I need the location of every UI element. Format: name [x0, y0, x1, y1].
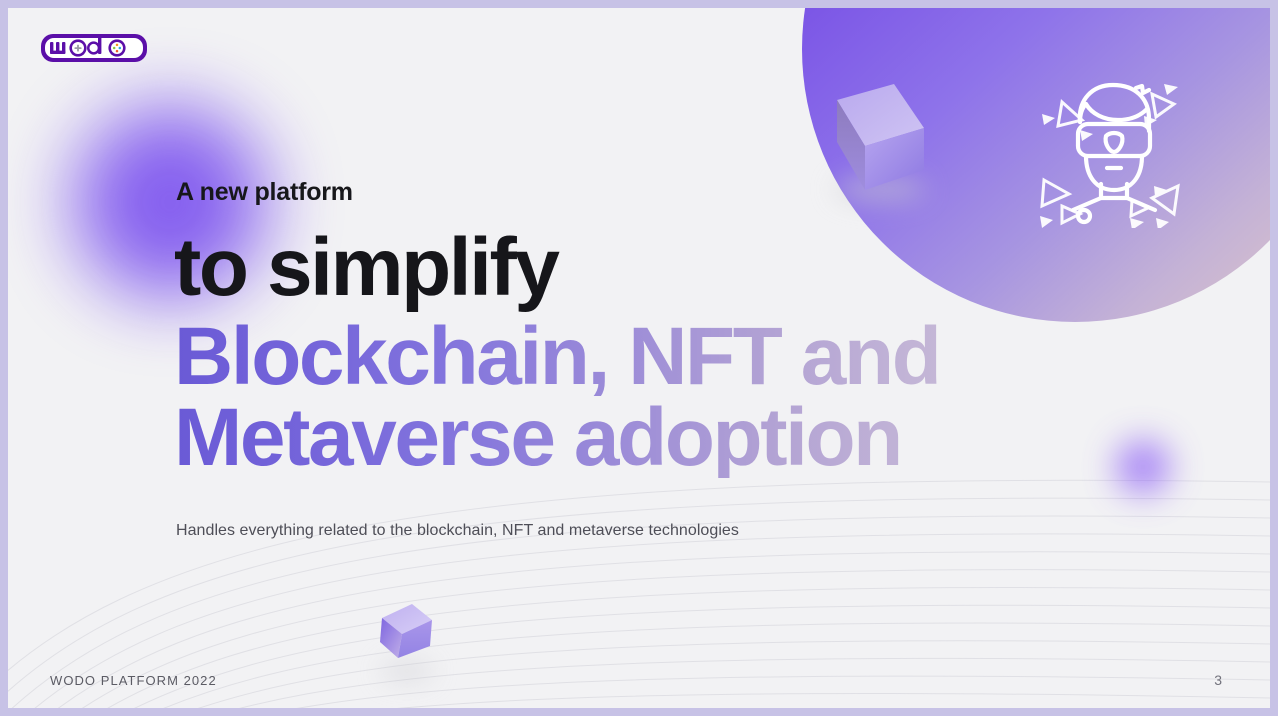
- purple-blur-blob-right: [1116, 440, 1170, 494]
- headline-block: A new platform to simplify Blockchain, N…: [170, 178, 1050, 540]
- page-number: 3: [1214, 672, 1222, 688]
- footer-label: WODO PLATFORM 2022: [50, 673, 217, 688]
- headline-line-dark: to simplify: [174, 229, 1050, 308]
- 3d-cube-small-shadow: [380, 662, 434, 680]
- headline-line-gradient-2: Metaverse adoption: [174, 399, 1050, 478]
- slide-canvas: A new platform to simplify Blockchain, N…: [8, 8, 1270, 708]
- headline-line-gradient-1: Blockchain, NFT and: [174, 318, 1050, 397]
- headline-eyebrow: A new platform: [176, 178, 1050, 207]
- vr-headset-avatar-icon: [1028, 58, 1198, 228]
- 3d-cube-small: [374, 596, 444, 666]
- slide: A new platform to simplify Blockchain, N…: [0, 0, 1278, 716]
- wodo-logo[interactable]: [38, 28, 150, 68]
- subtitle-text: Handles everything related to the blockc…: [176, 522, 1050, 540]
